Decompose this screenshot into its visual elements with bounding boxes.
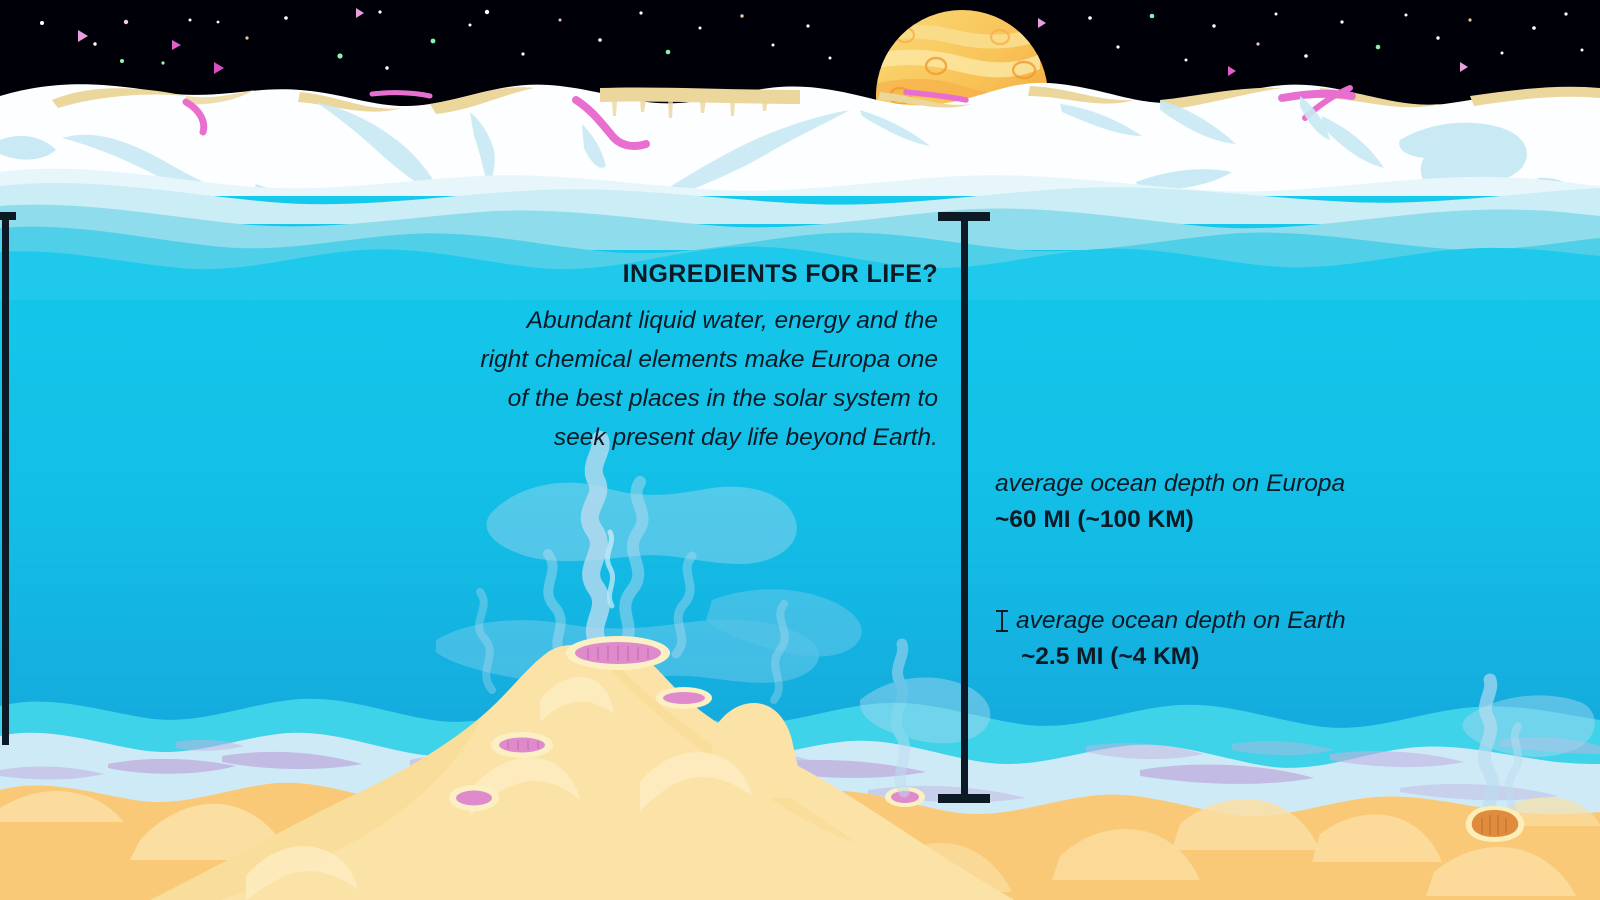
scale-bar-left (0, 212, 16, 745)
earth-depth-value: ~2.5 MI (~4 KM) (1021, 641, 1346, 673)
caption-line-3: of the best places in the solar system t… (330, 379, 938, 418)
europa-depth-label: average ocean depth on Europa ~60 MI (~1… (995, 468, 1345, 536)
europa-depth-value: ~60 MI (~100 KM) (995, 504, 1345, 536)
earth-depth-tick-icon (995, 608, 1009, 634)
caption-headline: INGREDIENTS FOR LIFE? (330, 262, 938, 287)
caption-line-2: right chemical elements make Europa one (330, 340, 938, 379)
earth-depth-label: average ocean depth on Earth ~2.5 MI (~4… (995, 605, 1346, 673)
caption-line-1: Abundant liquid water, energy and the (330, 301, 938, 340)
earth-depth-name-row: average ocean depth on Earth (995, 605, 1346, 637)
europa-depth-name: average ocean depth on Europa (995, 468, 1345, 500)
scale-bar-europa (938, 212, 990, 803)
caption-line-4: seek present day life beyond Earth. (330, 418, 938, 457)
caption-block: INGREDIENTS FOR LIFE? Abundant liquid wa… (330, 262, 938, 457)
infographic-canvas: INGREDIENTS FOR LIFE? Abundant liquid wa… (0, 0, 1600, 900)
earth-depth-name: average ocean depth on Earth (1016, 605, 1346, 637)
